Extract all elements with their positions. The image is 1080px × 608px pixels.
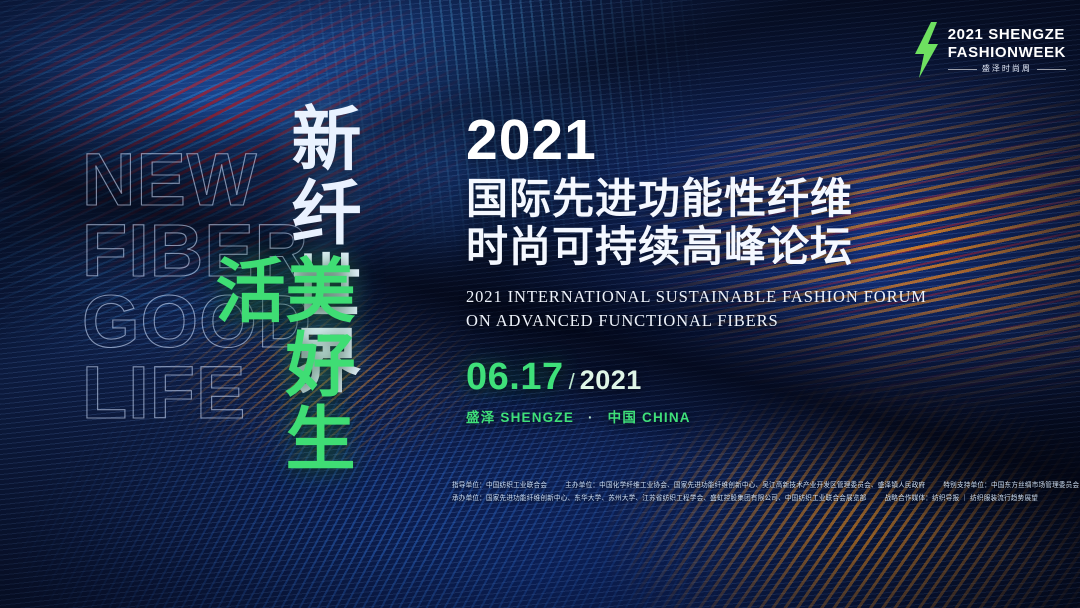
date-location-block: 06.17 / 2021 盛泽 SHENGZE · 中国 CHINA [466, 358, 691, 426]
artistic-typography-block: NEW FIBER GOOD LIFE 新纤世界 美好生活 [64, 96, 424, 496]
credits-organizer-unit: 承办单位：国家先进功能纤维创新中心、东华大学、苏州大学、江苏省纺织工程学会、盛虹… [452, 495, 866, 502]
event-year: 2021 [466, 112, 936, 169]
title-english-line-1: 2021 INTERNATIONAL SUSTAINABLE FASHION F… [466, 285, 936, 309]
main-title-block: 2021 国际先进功能性纤维 时尚可持续高峰论坛 2021 INTERNATIO… [466, 112, 936, 333]
location-city-en: SHENGZE [500, 410, 574, 425]
logo-rule-left [948, 69, 977, 70]
date-separator: / [569, 369, 575, 395]
logo-chinese-name: 盛泽时尚周 [982, 65, 1032, 73]
credits-row-2: 承办单位：国家先进功能纤维创新中心、东华大学、苏州大学、江苏省纺织工程学会、盛虹… [452, 493, 1062, 506]
location-country-cn: 中国 [608, 410, 637, 425]
title-english-line-2: ON ADVANCED FUNCTIONAL FIBERS [466, 309, 936, 333]
location-separator-dot: · [588, 410, 594, 425]
credits-host-unit: 主办单位：中国化学纤维工业协会、国家先进功能纤维创新中心、吴江高新技术产业开发区… [565, 482, 925, 489]
location-country-en: CHINA [642, 410, 691, 425]
event-date-day: 06.17 [466, 358, 564, 396]
event-date-row: 06.17 / 2021 [466, 358, 691, 396]
fashion-week-logo: 2021 SHENGZE FASHIONWEEK 盛泽时尚周 [911, 22, 1066, 78]
poster-canvas: 2021 SHENGZE FASHIONWEEK 盛泽时尚周 NEW FIBER… [0, 0, 1080, 608]
credits-media-partners: 战略合作媒体：纺织导报 ｜ 纺织服装流行趋势展望 [885, 495, 1039, 502]
credits-row-1: 指导单位：中国纺织工业联合会 主办单位：中国化学纤维工业协会、国家先进功能纤维创… [452, 480, 1062, 493]
logo-text-block: 2021 SHENGZE FASHIONWEEK 盛泽时尚周 [948, 27, 1066, 73]
credits-special-support-unit: 特别支持单位：中国东方丝绸市场管理委员会 [943, 482, 1079, 489]
title-chinese: 国际先进功能性纤维 时尚可持续高峰论坛 [466, 175, 936, 271]
title-chinese-line-1: 国际先进功能性纤维 [466, 175, 936, 223]
logo-rule-right [1037, 69, 1066, 70]
title-english: 2021 INTERNATIONAL SUSTAINABLE FASHION F… [466, 285, 936, 333]
lightning-bolt-icon [911, 22, 941, 78]
slogan-chinese-green: 美好生活 [210, 254, 350, 496]
credits-block: 指导单位：中国纺织工业联合会 主办单位：中国化学纤维工业协会、国家先进功能纤维创… [452, 480, 1062, 506]
logo-line-2: FASHIONWEEK [948, 45, 1066, 60]
outline-word-1: NEW [82, 144, 312, 215]
logo-line-1: 2021 SHENGZE [948, 27, 1066, 42]
location-city-cn: 盛泽 [466, 410, 495, 425]
event-date-year: 2021 [580, 365, 642, 396]
logo-subtitle-row: 盛泽时尚周 [948, 65, 1066, 73]
credits-guidance-unit: 指导单位：中国纺织工业联合会 [452, 482, 547, 489]
event-location-row: 盛泽 SHENGZE · 中国 CHINA [466, 406, 691, 426]
title-chinese-line-2: 时尚可持续高峰论坛 [466, 223, 936, 271]
